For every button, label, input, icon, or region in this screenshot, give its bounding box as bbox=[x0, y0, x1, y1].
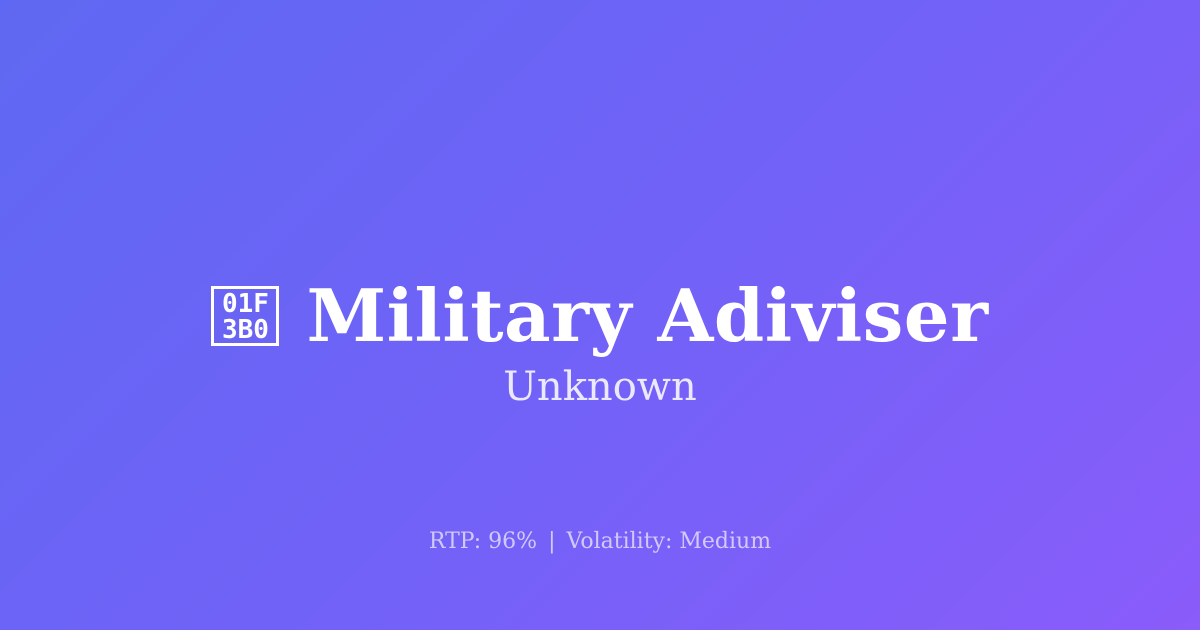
slot-machine-tofu-icon: 01F 3B0 bbox=[211, 286, 279, 346]
rtp-text: RTP: 96% bbox=[429, 529, 537, 554]
volatility-text: Volatility: Medium bbox=[567, 529, 772, 554]
tofu-hex-row-bottom: 3B0 bbox=[222, 317, 269, 343]
game-og-card: 01F 3B0 Military Adiviser Unknown RTP: 9… bbox=[0, 0, 1200, 630]
tofu-hex-row-top: 01F bbox=[222, 291, 269, 317]
game-provider: Unknown bbox=[0, 363, 1200, 411]
game-meta-line: RTP: 96% | Volatility: Medium bbox=[0, 528, 1200, 556]
meta-separator: | bbox=[544, 529, 559, 554]
game-title: Military Adiviser bbox=[306, 274, 988, 358]
